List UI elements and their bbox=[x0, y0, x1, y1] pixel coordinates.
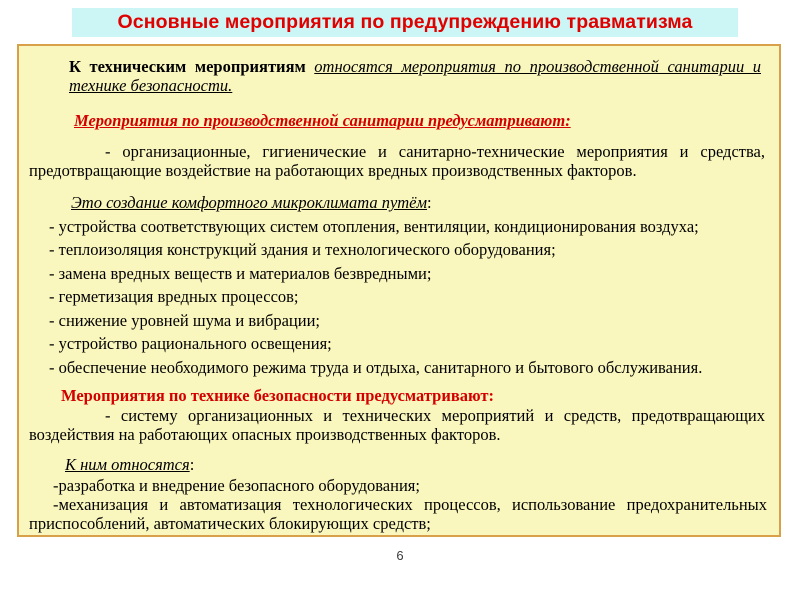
technical-measures-lead: К техническим мероприятиям bbox=[69, 57, 306, 76]
list-item: - теплоизоляция конструкций здания и тех… bbox=[49, 240, 771, 259]
safety-measures-paragraph: - систему организационных и технических … bbox=[27, 407, 771, 445]
relate-heading: К ним относятся: bbox=[27, 456, 771, 475]
relate-heading-text: К ним относятся bbox=[65, 455, 190, 474]
slide-title-banner: Основные мероприятия по предупреждению т… bbox=[72, 8, 738, 37]
list-item-text: -механизация и автоматизация технологиче… bbox=[29, 495, 767, 533]
relate-heading-colon: : bbox=[190, 455, 195, 474]
slide-content-box: К техническим мероприятиям относятся мер… bbox=[17, 44, 781, 537]
page-number: 6 bbox=[0, 548, 800, 563]
microclimate-list: - устройства соответствующих систем отоп… bbox=[27, 217, 771, 377]
microclimate-heading: Это создание комфортного микроклимата пу… bbox=[27, 194, 771, 213]
list-item: -правильное и удобное расположение обору… bbox=[27, 536, 771, 537]
list-item: - замена вредных веществ и материалов бе… bbox=[49, 264, 771, 283]
safety-measures-heading: Мероприятия по технике безопасности пред… bbox=[27, 386, 771, 406]
list-item: -механизация и автоматизация технологиче… bbox=[27, 496, 771, 534]
sanitary-measures-paragraph-text: - организационные, гигиенические и санит… bbox=[29, 142, 765, 180]
microclimate-heading-text: Это создание комфортного микроклимата пу… bbox=[71, 193, 427, 212]
list-item: - устройства соответствующих систем отоп… bbox=[49, 217, 771, 236]
list-item: - снижение уровней шума и вибрации; bbox=[49, 311, 771, 330]
list-item: -разработка и внедрение безопасного обор… bbox=[27, 477, 771, 496]
sanitary-measures-paragraph: - организационные, гигиенические и санит… bbox=[27, 143, 771, 181]
sanitary-measures-heading: Мероприятия по производственной санитари… bbox=[27, 111, 771, 131]
technical-measures-paragraph: К техническим мероприятиям относятся мер… bbox=[27, 58, 771, 96]
safety-measures-paragraph-text: - систему организационных и технических … bbox=[29, 406, 765, 444]
content-inner: К техническим мероприятиям относятся мер… bbox=[19, 46, 779, 537]
page-title: Основные мероприятия по предупреждению т… bbox=[118, 11, 693, 34]
list-item: - обеспечение необходимого режима труда … bbox=[49, 358, 771, 377]
microclimate-heading-colon: : bbox=[427, 193, 432, 212]
list-item: - устройство рационального освещения; bbox=[49, 334, 771, 353]
relate-list: -разработка и внедрение безопасного обор… bbox=[27, 477, 771, 537]
list-item: - герметизация вредных процессов; bbox=[49, 287, 771, 306]
list-item-text: -правильное и удобное расположение обору… bbox=[29, 535, 767, 537]
